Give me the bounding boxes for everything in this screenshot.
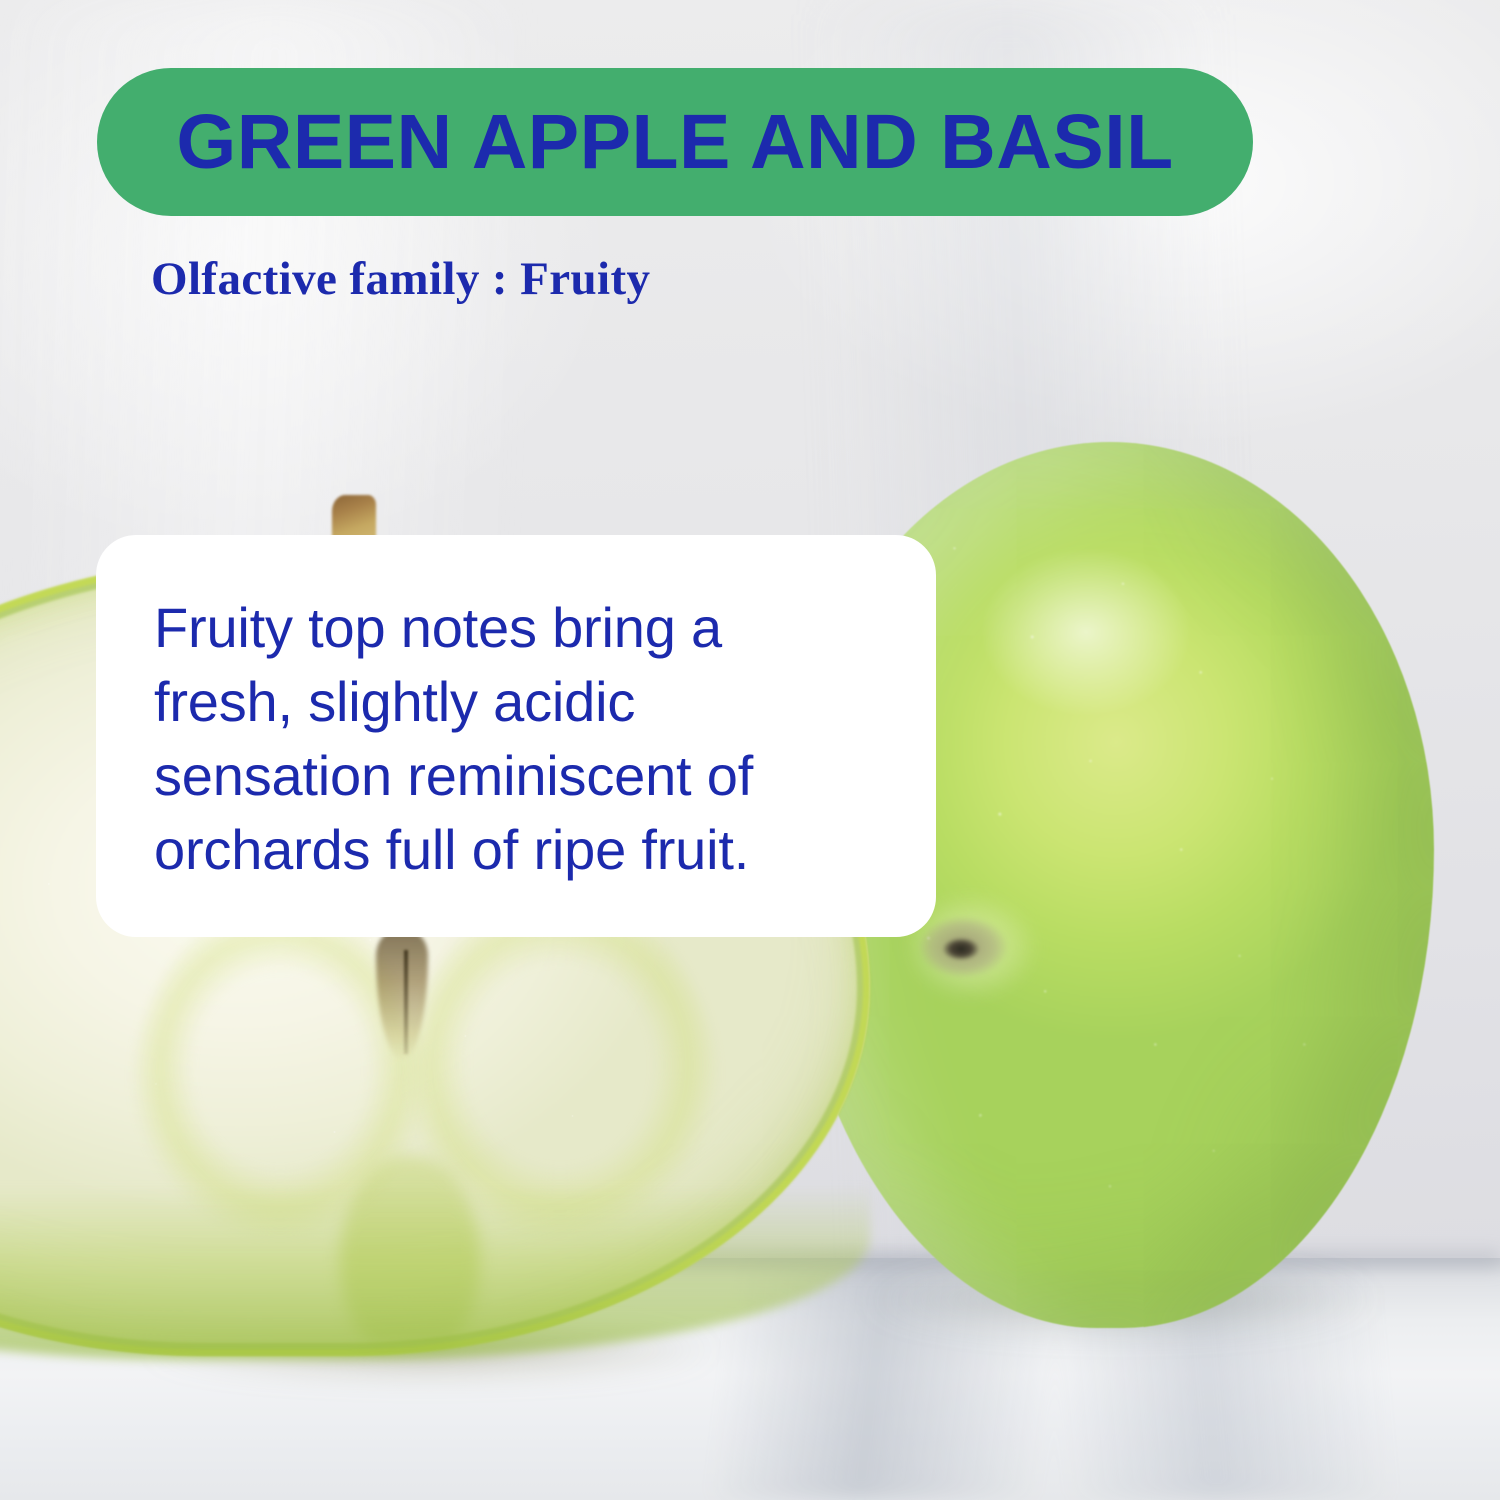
title-badge: GREEN APPLE AND BASIL	[97, 68, 1253, 216]
description-text: Fruity top notes bring a fresh, slightly…	[154, 591, 878, 887]
olfactive-family-label: Olfactive family : Fruity	[151, 252, 650, 306]
apple-seed-line	[404, 950, 408, 1054]
description-card: Fruity top notes bring a fresh, slightly…	[96, 535, 936, 937]
page-title: GREEN APPLE AND BASIL	[176, 104, 1173, 181]
product-feature-card: GREEN APPLE AND BASIL Olfactive family :…	[0, 0, 1500, 1500]
